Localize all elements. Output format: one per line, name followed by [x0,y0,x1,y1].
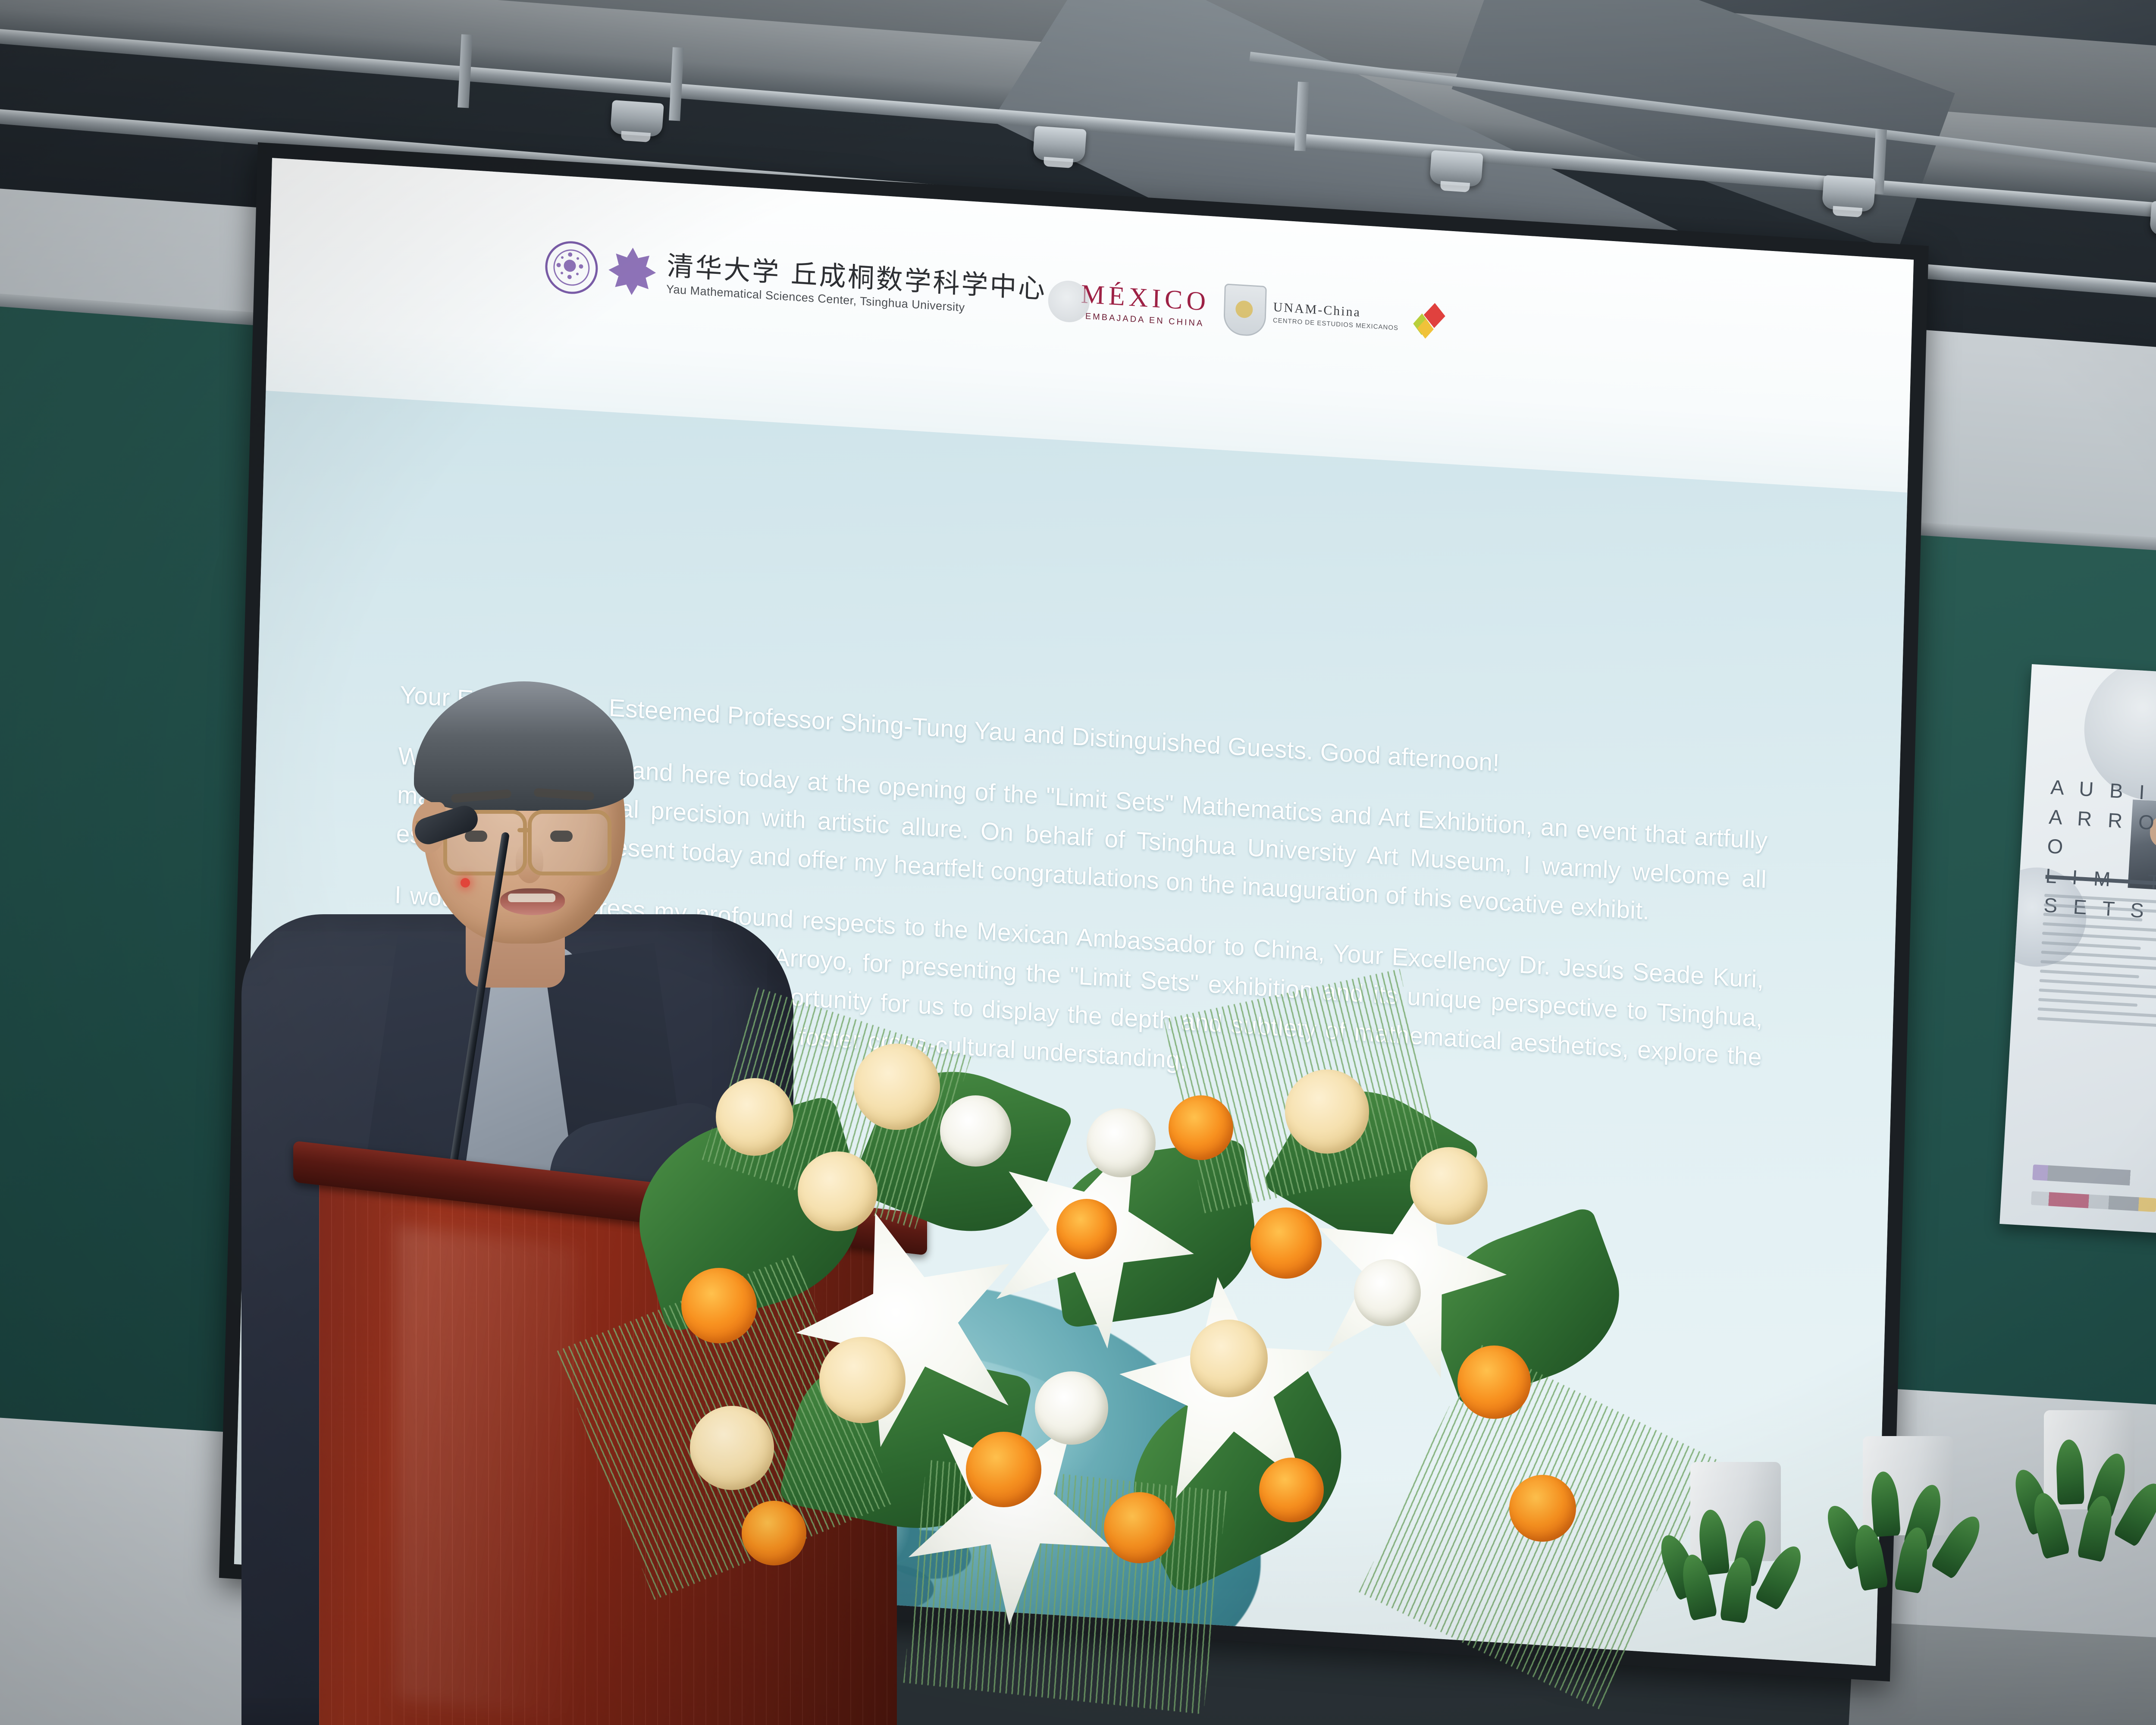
ceiling-spotlight-icon-3 [1429,150,1483,187]
plant-foliage-icon [2018,1414,2156,1557]
ceiling-spotlight-icon-1 [610,100,664,137]
floor-strip [1847,1621,2156,1725]
cream-rose [716,1078,793,1156]
orange-ranunculus [1056,1199,1117,1259]
eyeglasses-lens-right-icon [528,810,611,875]
orange-ranunculus [1104,1492,1175,1563]
floral-arrangement [612,966,1690,1725]
poster-sponsor-logos-icon [2031,1164,2156,1212]
orange-ranunculus [1169,1095,1233,1160]
orange-ranunculus [681,1268,757,1343]
white-rose [1035,1371,1108,1445]
poster-title-line-2: A R R O Y O [2046,802,2156,870]
lecture-hall-photo: A U B I N A R R O Y O L I M I T S E T S … [0,0,2156,1725]
plant-foliage-icon [1837,1445,1992,1587]
podium-highlight [397,1225,578,1721]
presenter-hair [414,681,634,811]
mexico-wordmark: MÉXICO [1081,279,1210,317]
cream-rose [819,1337,906,1423]
ceiling-spotlight-icon-2 [1033,126,1087,163]
tsinghua-seal-icon [545,240,599,296]
fern-sprig [903,1460,1227,1714]
eyeglasses-bridge-icon [517,828,531,832]
ceiling-spotlight-icon-4 [1822,175,1876,212]
cream-rose [690,1406,774,1490]
poster-body-text-block [2037,894,2156,1035]
orange-ranunculus [1250,1207,1322,1279]
white-rose [1354,1259,1421,1326]
orange-ranunculus [1509,1475,1576,1542]
cream-rose [1190,1320,1268,1397]
plant-foliage-icon [1664,1479,1820,1621]
cream-rose [1285,1069,1369,1154]
orange-ranunculus [742,1501,806,1565]
unam-shield-icon [1223,283,1267,337]
mexico-flag-icon [1413,302,1445,342]
cream-rose [798,1151,877,1231]
orange-ranunculus [1457,1345,1531,1419]
presenter-mouth [500,888,565,915]
ymsc-flower-icon [606,244,659,298]
mexico-embassy-logo: MÉXICO EMBAJADA EN CHINA UNAM-China CENT… [1080,275,1446,348]
white-rose [1087,1108,1156,1177]
unam-china-logo: UNAM-China CENTRO DE ESTUDIOS MEXICANOS [1223,283,1399,345]
orange-ranunculus [1259,1458,1324,1522]
white-rose [940,1095,1011,1167]
orange-ranunculus [966,1432,1041,1507]
cream-rose [1410,1147,1488,1225]
ymsc-logo: 清华大学 丘成桐数学科学中心 Yau Mathematical Sciences… [545,240,1047,323]
microphone-status-led-icon [461,878,470,888]
cream-rose [854,1044,940,1130]
